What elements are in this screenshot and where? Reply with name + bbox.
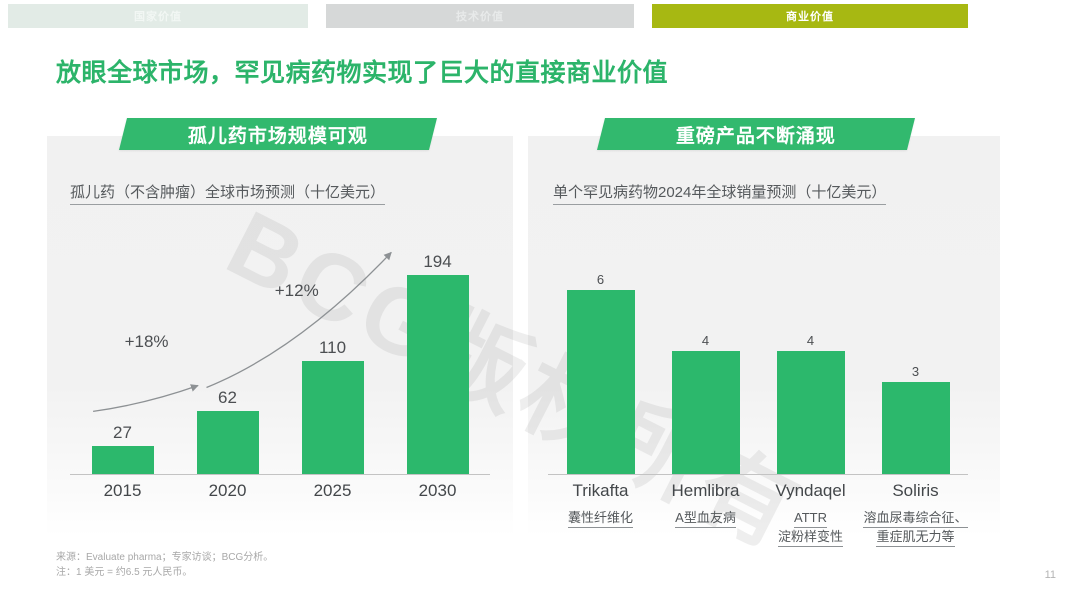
x-axis-line [548,474,968,475]
left-chart-subtitle: 孤儿药（不含肿瘤）全球市场预测（十亿美元） [70,181,385,205]
bar-value-label: 110 [283,338,383,358]
category-label: Hemlibra [646,481,766,501]
bar-value-label: 6 [551,272,651,287]
bar-value-label: 27 [73,423,173,443]
right-banner-label: 重磅产品不断涌现 [676,121,836,148]
right-panel-banner: 重磅产品不断涌现 [597,118,915,150]
top-tab-bar: 国家价值 技术价值 商业价值 [0,4,1080,28]
cagr-label: +18% [125,332,169,352]
tab-label: 技术价值 [456,8,504,24]
category-sublabel: ATTR淀粉样变性 [751,509,871,547]
category-sublabel: A型血友病 [646,509,766,528]
category-label: 2030 [378,481,498,501]
tab-label: 商业价值 [786,8,834,24]
bar [302,361,364,474]
top-drug-sales-bar-chart: 6Trikafta囊性纤维化4HemlibraA型血友病4VyndaqelATT… [548,225,968,475]
page-title: 放眼全球市场，罕见病药物实现了巨大的直接商业价值 [56,53,668,89]
bar-value-label: 4 [761,333,861,348]
bar [407,275,469,474]
bar-value-label: 4 [656,333,756,348]
tab-national-value[interactable]: 国家价值 [8,4,308,28]
bar-value-label: 3 [866,364,966,379]
x-axis-line [70,474,490,475]
bar [197,411,259,474]
category-sublabel: 囊性纤维化 [541,509,661,528]
category-label: Soliris [856,481,976,501]
category-label: 2020 [168,481,288,501]
left-banner-label: 孤儿药市场规模可观 [188,121,368,148]
right-chart-subtitle: 单个罕见病药物2024年全球销量预测（十亿美元） [553,181,886,205]
category-label: 2025 [273,481,393,501]
bar [672,351,740,474]
category-label: Vyndaqel [751,481,871,501]
bar [92,446,154,474]
tab-label: 国家价值 [134,8,182,24]
footnote-source: 来源：Evaluate pharma；专家访谈；BCG分析。 [56,550,273,565]
page-number: 11 [1045,569,1056,581]
footnote-note: 注：1 美元 = 约6.5 元人民币。 [56,565,273,580]
cagr-label: +12% [275,281,319,301]
bar [567,290,635,474]
category-label: Trikafta [541,481,661,501]
bar [777,351,845,474]
category-label: 2015 [63,481,183,501]
bar-value-label: 62 [178,388,278,408]
tab-technical-value[interactable]: 技术价值 [326,4,634,28]
footnotes: 来源：Evaluate pharma；专家访谈；BCG分析。 注：1 美元 = … [56,550,273,580]
category-sublabel: 溶血尿毒综合征、重症肌无力等 [856,509,976,547]
orphan-drug-market-bar-chart: 27201562202011020251942030+18%+12% [70,225,490,475]
tab-commercial-value[interactable]: 商业价值 [652,4,968,28]
bar [882,382,950,474]
left-panel-banner: 孤儿药市场规模可观 [119,118,437,150]
bar-value-label: 194 [388,252,488,272]
